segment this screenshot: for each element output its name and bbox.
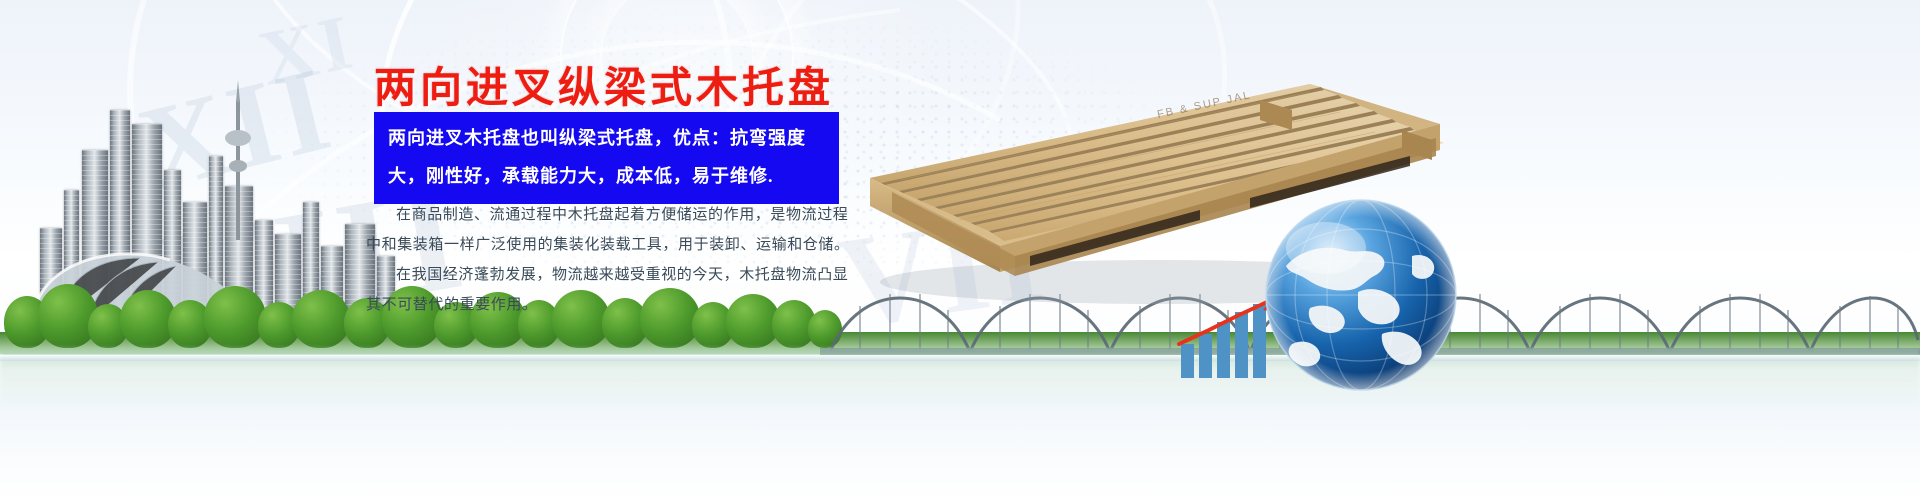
highlight-line-2: 大，刚性好，承载能力大，成本低，易于维修. — [388, 157, 829, 195]
description-paragraph-1: 在商品制造、流通过程中木托盘起着方便储运的作用，是物流过程中和集装箱一样广泛使用… — [366, 200, 852, 260]
description-paragraph-2: 在我国经济蓬勃发展，物流越来越受重视的今天，木托盘物流凸显其不可替代的重要作用。 — [366, 260, 852, 320]
page-title: 两向进叉纵梁式木托盘 — [374, 54, 834, 115]
highlight-line-1: 两向进叉木托盘也叫纵梁式托盘，优点：抗弯强度 — [388, 128, 806, 148]
description-paragraphs: 在商品制造、流通过程中木托盘起着方便储运的作用，是物流过程中和集装箱一样广泛使用… — [366, 200, 852, 320]
earth-globe-graphic — [1262, 196, 1460, 394]
highlight-callout-box: 两向进叉木托盘也叫纵梁式托盘，优点：抗弯强度 大，刚性好，承载能力大，成本低，易… — [374, 112, 839, 204]
product-banner: XI XII VIII VII — [0, 0, 1920, 500]
waterline — [0, 355, 1920, 361]
